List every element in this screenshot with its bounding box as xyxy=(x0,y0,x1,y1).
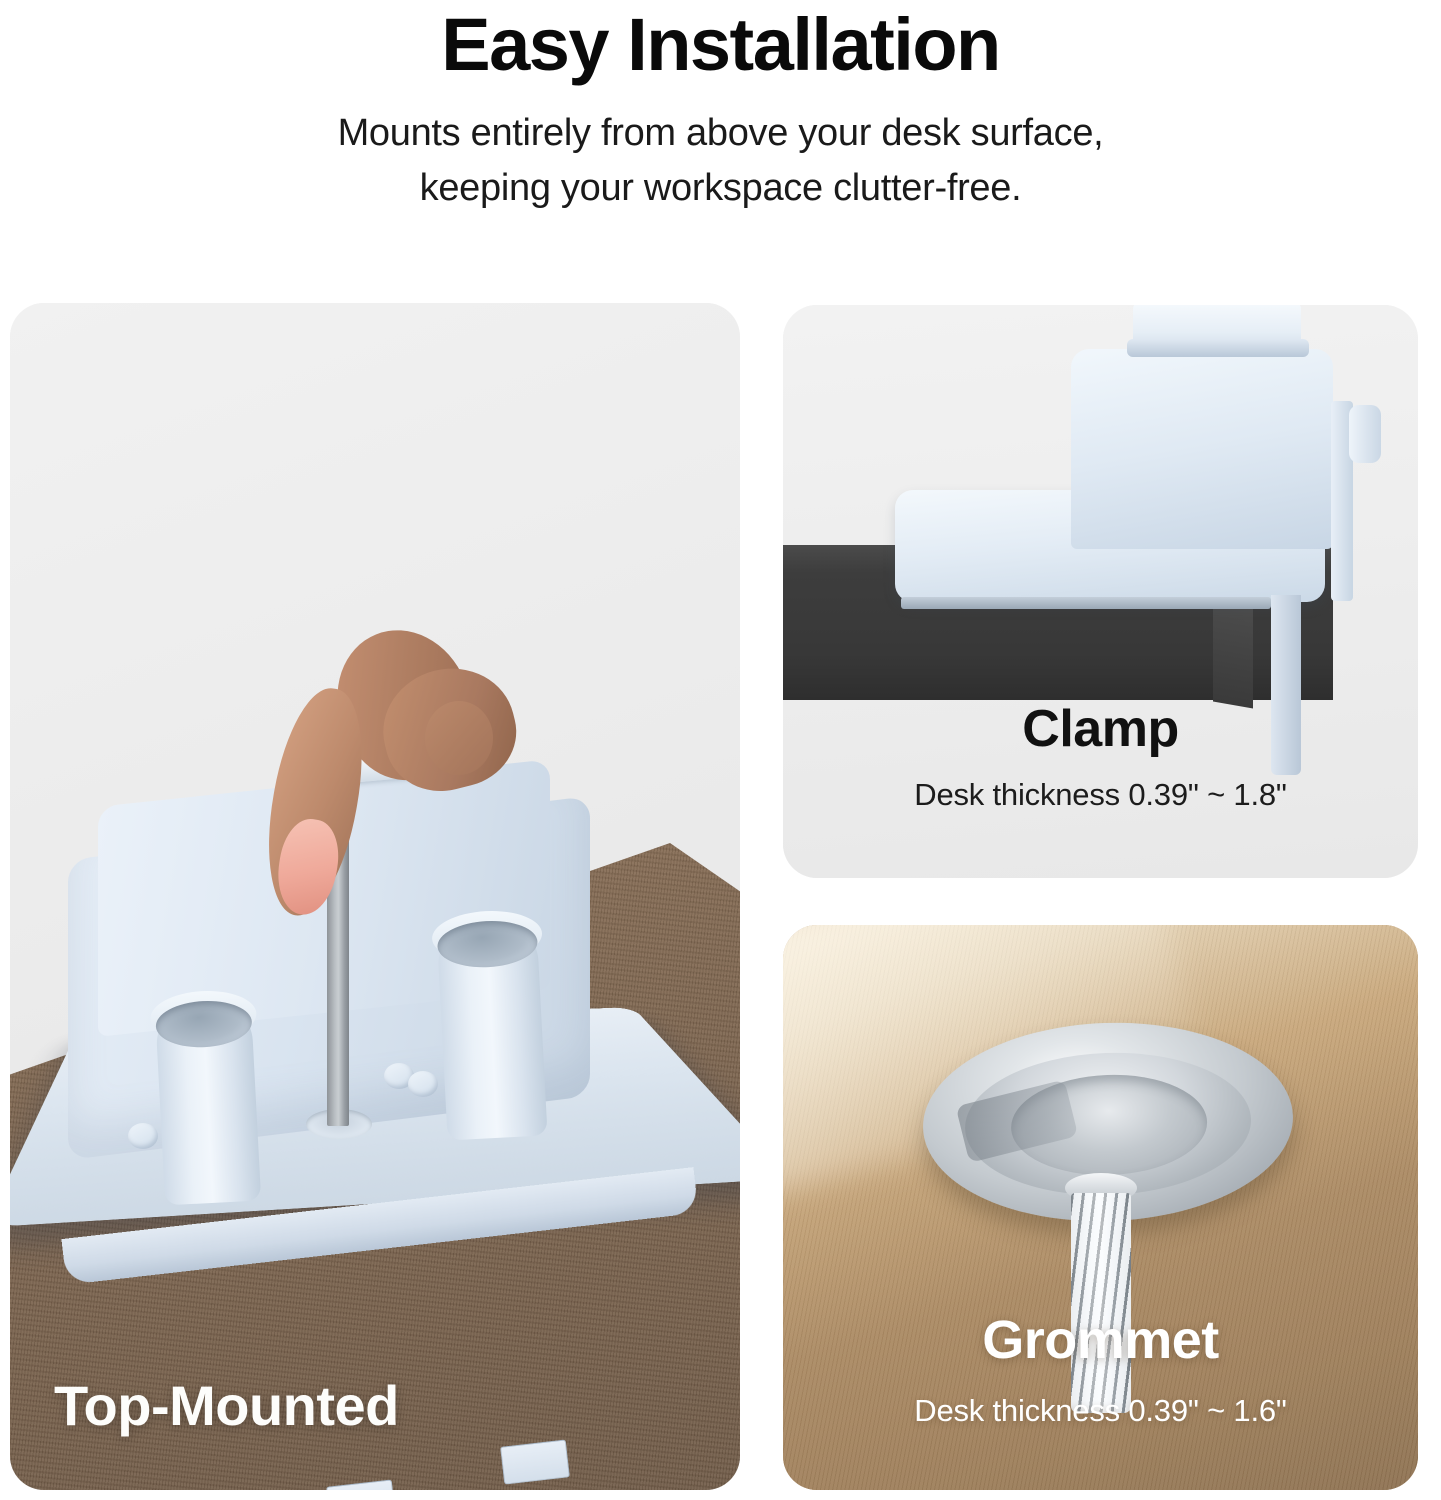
top-mounted-label: Top-Mounted xyxy=(54,1373,399,1438)
mount-post-right xyxy=(436,921,547,1141)
hand-knuckle xyxy=(425,701,493,775)
panel-top-mounted: Top-Mounted xyxy=(10,303,740,1490)
grommet-title: Grommet xyxy=(783,1313,1418,1367)
hand xyxy=(253,591,583,921)
clamp-adjust-knob xyxy=(1349,405,1381,463)
clamp-title: Clamp xyxy=(783,703,1418,755)
clamp-collar-lip xyxy=(1127,339,1309,357)
page-subtitle: Mounts entirely from above your desk sur… xyxy=(0,106,1441,216)
mount-post-left xyxy=(155,1001,261,1206)
header: Easy Installation Mounts entirely from a… xyxy=(0,0,1441,216)
mount-boss-bump xyxy=(128,1123,158,1149)
subtitle-line-2: keeping your workspace clutter-free. xyxy=(0,161,1441,216)
clamp-subtitle: Desk thickness 0.39" ~ 1.8" xyxy=(783,777,1418,813)
subtitle-line-1: Mounts entirely from above your desk sur… xyxy=(0,106,1441,161)
panel-clamp: Clamp Desk thickness 0.39" ~ 1.8" xyxy=(783,305,1418,878)
panel-grommet: Grommet Desk thickness 0.39" ~ 1.6" xyxy=(783,925,1418,1490)
page-title: Easy Installation xyxy=(0,6,1441,84)
panel-grid: Top-Mounted Clamp Desk thickness 0.39" ~… xyxy=(0,303,1441,1500)
clamp-body-block xyxy=(1071,349,1333,549)
clamp-caption: Clamp Desk thickness 0.39" ~ 1.8" xyxy=(783,703,1418,813)
grommet-subtitle: Desk thickness 0.39" ~ 1.6" xyxy=(783,1393,1418,1429)
mount-boss-bump xyxy=(408,1071,438,1097)
clamp-contact-pad xyxy=(901,597,1271,609)
grommet-caption: Grommet Desk thickness 0.39" ~ 1.6" xyxy=(783,1313,1418,1429)
base-plate-tab xyxy=(500,1439,570,1484)
